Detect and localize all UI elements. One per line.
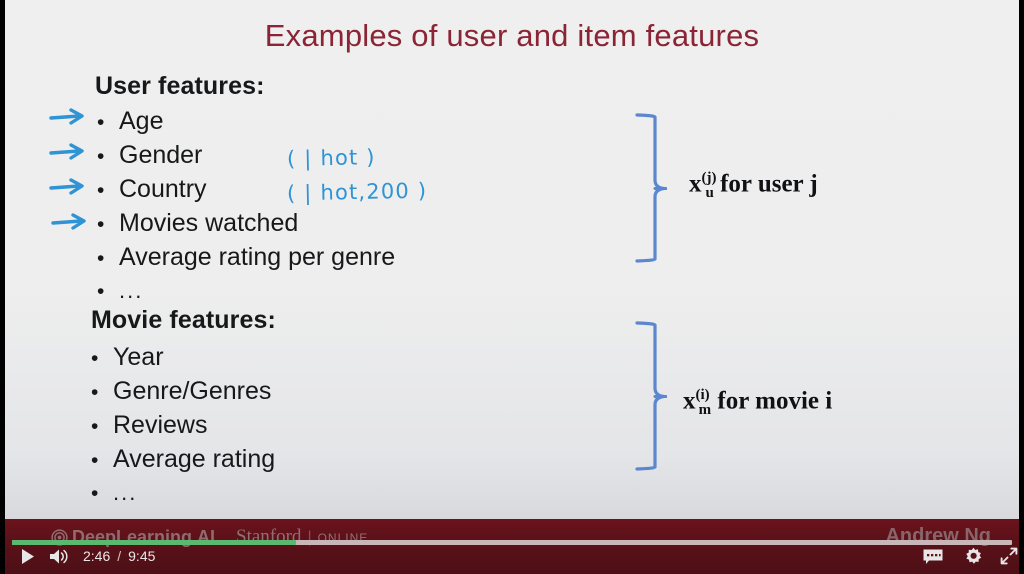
bullet-icon: • [97, 140, 119, 174]
vector-superscript: (i) [696, 387, 710, 403]
fullscreen-icon [1000, 547, 1018, 565]
user-brace-icon [605, 112, 667, 269]
controls-row: 2:46 / 9:45 [5, 542, 1019, 570]
list-item: • Average rating per genre [97, 240, 395, 274]
user-feature-vector-label: x(j)u for user j [689, 170, 818, 202]
bullet-icon: • [91, 342, 113, 376]
movie-features-heading: Movie features: [91, 306, 276, 335]
list-item: • ... [97, 274, 395, 308]
user-features-list: • Age • Gender • Country • Movies watche… [97, 104, 395, 308]
time-display: 2:46 / 9:45 [83, 544, 155, 568]
vector-description: for movie i [711, 387, 832, 414]
list-item-label: Reviews [113, 408, 207, 442]
list-item-label: Year [113, 340, 164, 374]
list-item-label: ... [119, 274, 143, 308]
slide-canvas: Examples of user and item features [5, 0, 1019, 519]
captions-button[interactable] [920, 544, 946, 568]
gear-icon [964, 547, 983, 566]
list-item-label: Average rating per genre [119, 240, 395, 274]
bullet-icon: • [91, 444, 113, 478]
bullet-icon: • [91, 376, 113, 410]
user-features-heading: User features: [95, 72, 265, 101]
handwritten-annotation: ( | hot,200 ) [287, 179, 428, 206]
list-item: • Average rating [91, 442, 275, 476]
movie-brace-icon [605, 320, 667, 477]
volume-button[interactable] [46, 544, 72, 568]
bullet-icon: • [97, 275, 119, 309]
time-separator: / [117, 548, 121, 564]
arrow-right-icon [51, 211, 91, 233]
play-button[interactable] [15, 544, 41, 568]
vector-symbol: x [689, 170, 702, 197]
total-time: 9:45 [128, 548, 155, 564]
vector-subscript: m [699, 402, 712, 418]
play-icon [21, 548, 35, 565]
bullet-icon: • [91, 477, 113, 511]
arrow-right-icon [49, 176, 89, 198]
volume-icon [49, 548, 69, 565]
vector-symbol: x [683, 387, 696, 414]
list-item: • Genre/Genres [91, 374, 275, 408]
bullet-icon: • [97, 174, 119, 208]
list-item-label: Country [119, 172, 207, 206]
bullet-icon: • [97, 106, 119, 140]
video-player-page: Examples of user and item features [0, 0, 1024, 574]
vector-subscript: u [706, 185, 714, 201]
arrow-right-icon [49, 141, 89, 163]
settings-button[interactable] [960, 544, 986, 568]
arrow-right-icon [49, 106, 89, 128]
video-player-controls-bar: DeepLearning.AI Stanford | ONLINE Andrew… [5, 519, 1019, 574]
list-item: • Movies watched [97, 206, 395, 240]
list-item-label: Age [119, 104, 163, 138]
list-item: • Reviews [91, 408, 275, 442]
captions-icon [922, 548, 944, 565]
list-item-label: Movies watched [119, 206, 298, 240]
list-item-label: Average rating [113, 442, 275, 476]
list-item: • ... [91, 476, 275, 510]
bullet-icon: • [97, 208, 119, 242]
list-item: • Age [97, 104, 395, 138]
handwritten-annotation: ( | hot ) [287, 145, 376, 171]
list-item-label: ... [113, 476, 137, 510]
current-time: 2:46 [83, 548, 110, 564]
fullscreen-button[interactable] [997, 544, 1021, 568]
movie-feature-vector-label: x(i)m for movie i [683, 387, 832, 419]
bullet-icon: • [97, 242, 119, 276]
list-item-label: Genre/Genres [113, 374, 271, 408]
list-item-label: Gender [119, 138, 202, 172]
page-title: Examples of user and item features [5, 18, 1019, 54]
bullet-icon: • [91, 410, 113, 444]
movie-features-list: • Year • Genre/Genres • Reviews • Averag… [91, 340, 275, 510]
list-item: • Year [91, 340, 275, 374]
vector-description: for user j [714, 170, 818, 197]
